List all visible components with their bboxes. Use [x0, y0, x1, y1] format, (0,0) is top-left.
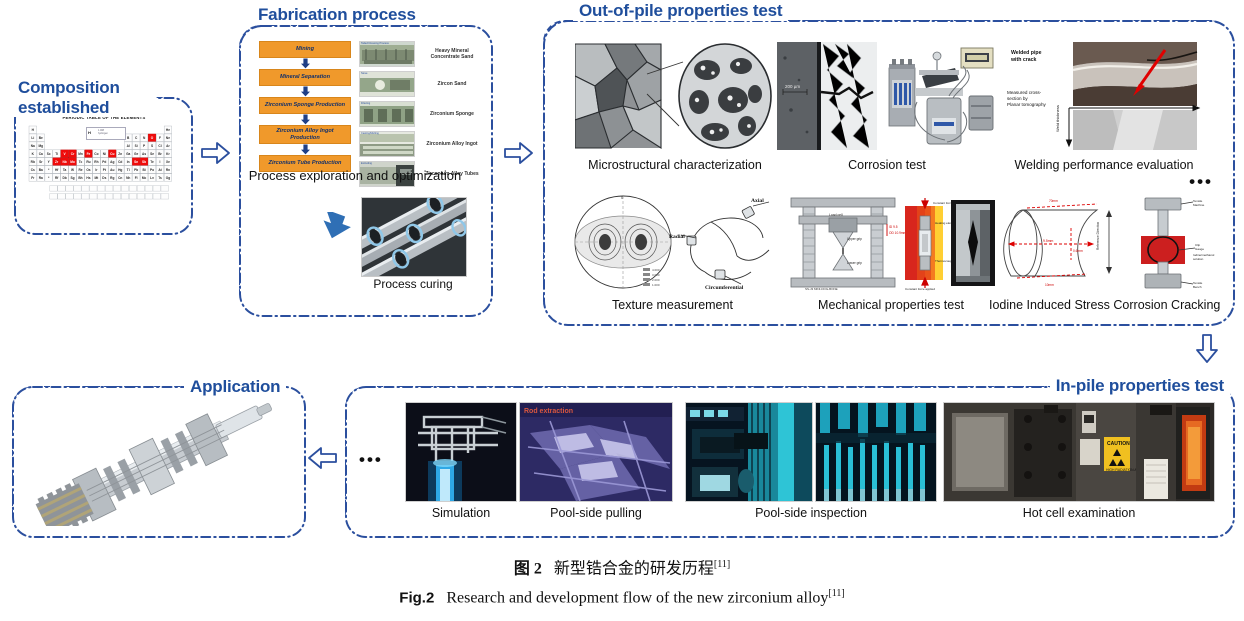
tile-caption: Mechanical properties test — [785, 298, 997, 312]
svg-text:Cu: Cu — [110, 152, 114, 156]
svg-text:Mo: Mo — [70, 160, 75, 164]
svg-text:Zn: Zn — [118, 152, 122, 156]
caption-cn-label: 图 2 — [514, 560, 542, 577]
caption-cn-text: 新型锆合金的研发历程 — [554, 560, 714, 577]
caption-en-ref: [11] — [828, 588, 844, 599]
svg-text:Nb: Nb — [62, 160, 66, 164]
svg-text:200 µm: 200 µm — [785, 84, 800, 89]
tile-iodine-induced-stress-corrosion-cracking: 70mm 9.5mm 0.6mm 10mm Reference Directio… — [993, 194, 1223, 314]
right-arrow-icon — [503, 140, 535, 166]
svg-text:Sc: Sc — [47, 152, 51, 156]
svg-text:SS-J3 MINI-DOG-BONE: SS-J3 MINI-DOG-BONE — [805, 287, 838, 291]
arrow-composition-to-fabrication — [200, 140, 232, 171]
flow-step: Zirconium Alloy Ingot Production — [259, 125, 351, 144]
tile-mechanical-properties-test: Load cell Upper grip Lower grip ID 9.5 O… — [785, 194, 997, 314]
svg-text:CAUTION: CAUTION — [1107, 441, 1130, 447]
corrosion-image: 200 µm — [777, 40, 997, 152]
flow-step: Mining — [259, 41, 351, 58]
svg-text:Ne: Ne — [166, 136, 170, 140]
svg-text:0.6mm: 0.6mm — [1073, 249, 1083, 253]
periodic-table-legend: H 1.008hydrogen — [86, 127, 126, 140]
svg-text:Rn: Rn — [166, 168, 170, 172]
svg-text:As: As — [142, 152, 146, 156]
product-label: Zirconium Alloy Ingot — [421, 131, 483, 157]
caption-simulation: Simulation — [405, 506, 517, 520]
svg-text:Rb: Rb — [31, 160, 35, 164]
outpile-ellipsis: ••• — [1189, 172, 1213, 192]
svg-text:Na: Na — [31, 144, 35, 148]
product-label: Heavy Mineral Concentrate Sand — [421, 41, 483, 67]
svg-text:Cs: Cs — [31, 168, 35, 172]
flow-down-arrow-icon — [259, 86, 351, 97]
svg-text:Re: Re — [78, 168, 82, 172]
process-curing-image — [361, 197, 467, 277]
thumb-title: Extruding — [361, 162, 372, 165]
tile-caption: Iodine Induced Stress Corrosion Cracking — [989, 298, 1219, 312]
svg-text:OD 10.9mm: OD 10.9mm — [889, 231, 907, 235]
caption-cn-ref: [11] — [714, 559, 730, 570]
svg-text:Sg: Sg — [71, 176, 75, 180]
tile-texture-measurement: 0 4.0003.0002.0001.000 Axial Radial — [565, 194, 780, 314]
svg-text:solution: solution — [1193, 257, 1204, 261]
svg-text:Cn: Cn — [118, 176, 122, 180]
thumb-sponge: Filtering — [359, 101, 415, 127]
microstructure-image — [575, 40, 775, 152]
caption-english: Fig.2 Research and development flow of t… — [0, 581, 1244, 610]
image-poolside-inspection-a — [685, 402, 813, 502]
tile-caption: Texture measurement — [565, 298, 780, 312]
poolside-inspection-art-b — [816, 403, 937, 502]
svg-text:Au: Au — [110, 168, 114, 172]
svg-text:Fl: Fl — [135, 176, 138, 180]
svg-text:Tl: Tl — [127, 168, 130, 172]
thumb-title: Sieve — [361, 72, 368, 75]
thumb-art — [360, 72, 415, 97]
caption-hot-cell-examination: Hot cell examination — [943, 506, 1215, 520]
svg-text:Load cell: Load cell — [829, 213, 843, 217]
svg-text:Bi: Bi — [143, 168, 146, 172]
svg-text:70mm: 70mm — [1049, 199, 1058, 203]
fabrication-title: Fabrication process — [252, 5, 422, 25]
process-curing-label: Process curing — [351, 277, 475, 291]
texture-image: 0 4.0003.0002.0001.000 Axial Radial — [565, 194, 780, 292]
svg-text:Bh: Bh — [78, 176, 82, 180]
texture-annot-radial: Radial — [669, 234, 685, 240]
composition-panel: PERIODIC TABLE OF THE ELEMENTS HHeLiBeBC… — [14, 97, 189, 231]
svg-text:W: W — [71, 168, 74, 172]
svg-text:Rh: Rh — [94, 160, 98, 164]
svg-text:Mg: Mg — [38, 144, 43, 148]
svg-text:Os: Os — [86, 168, 90, 172]
svg-text:Al: Al — [127, 144, 130, 148]
svg-text:Si: Si — [135, 144, 138, 148]
application-panel — [12, 386, 302, 534]
svg-text:Te: Te — [150, 160, 154, 164]
out-of-pile-title: Out-of-pile properties test — [573, 1, 788, 21]
arrow-inpile-to-application — [306, 445, 338, 476]
poolside-pulling-art: Rod extraction — [520, 403, 673, 502]
in-pile-panel: ••• Simulatio — [345, 386, 1231, 534]
svg-text:Constant force applied: Constant force applied — [905, 287, 935, 291]
hot-cell-art: CAUTION HIGH RADIATION AREA — [944, 403, 1215, 502]
svg-text:Machine: Machine — [1193, 203, 1205, 207]
svg-text:Db: Db — [62, 176, 66, 180]
tile-caption: Welding performance evaluation — [997, 158, 1211, 172]
svg-text:Ts: Ts — [158, 176, 162, 180]
svg-text:Ds: Ds — [102, 176, 106, 180]
caption-chinese: 图 2 新型锆合金的研发历程[11] — [0, 552, 1244, 581]
down-arrow-icon — [1194, 333, 1220, 365]
caption-poolside-pulling: Pool-side pulling — [519, 506, 673, 520]
tile-welding-performance-evaluation: Welded pipe with crack Measured cross- s… — [997, 40, 1211, 176]
svg-text:Lower grip: Lower grip — [847, 261, 862, 265]
figure-canvas: Composition established PERIODIC TABLE O… — [0, 0, 1244, 621]
svg-text:Po: Po — [150, 168, 154, 172]
thumb-art — [360, 102, 415, 127]
thumb-title: Tailed Dressing Process — [361, 42, 389, 45]
flow-step: Mineral Separation — [259, 69, 351, 86]
svg-text:section by: section by — [1007, 96, 1028, 101]
arrow-fabrication-to-outpile — [503, 140, 535, 171]
svg-text:Ca: Ca — [39, 152, 43, 156]
svg-text:Gauge: Gauge — [1195, 247, 1204, 251]
svg-text:Bench: Bench — [1193, 285, 1202, 289]
welding-image: Welded pipe with crack Measured cross- s… — [997, 40, 1211, 152]
svg-text:Upper grip: Upper grip — [847, 237, 862, 241]
thumb-mineral-separation: Sieve — [359, 71, 415, 97]
tile-microstructural-characterization: Microstructural characterization — [575, 40, 775, 176]
out-of-pile-panel: Microstructural characterization 200 µm — [543, 20, 1231, 322]
svg-text:Li: Li — [31, 136, 34, 140]
flow-down-arrow-icon — [259, 144, 351, 155]
mechanical-image: Load cell Upper grip Lower grip ID 9.5 O… — [785, 194, 997, 292]
svg-text:3.000: 3.000 — [652, 273, 660, 277]
svg-text:9.5mm: 9.5mm — [1043, 239, 1054, 243]
svg-text:Co: Co — [94, 152, 98, 156]
curing-arrow-icon — [319, 212, 353, 247]
svg-text:Weld thickness: Weld thickness — [1055, 105, 1060, 132]
svg-text:Sn: Sn — [134, 160, 138, 164]
tile-caption: Corrosion test — [777, 158, 997, 172]
svg-text:Pb: Pb — [134, 168, 138, 172]
periodic-table: PERIODIC TABLE OF THE ELEMENTS HHeLiBeBC… — [26, 113, 182, 219]
svg-text:Planar tomography: Planar tomography — [1007, 102, 1047, 107]
caption-en-text: Research and development flow of the new… — [446, 590, 828, 607]
svg-text:with crack: with crack — [1010, 57, 1036, 63]
svg-text:Cl: Cl — [158, 144, 161, 148]
fabrication-flow: Mining Mineral Separation Zirconium Spon… — [259, 41, 351, 172]
svg-text:ID 9.5: ID 9.5 — [889, 225, 898, 229]
svg-text:F: F — [159, 136, 161, 140]
svg-text:Be: Be — [39, 136, 43, 140]
arrow-outpile-to-inpile — [1194, 333, 1220, 370]
svg-text:Ga: Ga — [126, 152, 130, 156]
svg-text:Ni: Ni — [103, 152, 106, 156]
svg-text:Hg: Hg — [118, 168, 122, 172]
image-poolside-inspection-b — [815, 402, 937, 502]
fabrication-panel: Mining Mineral Separation Zirconium Spon… — [239, 25, 489, 313]
svg-text:Welded pipe: Welded pipe — [1011, 50, 1042, 56]
svg-text:Sb: Sb — [142, 160, 146, 164]
svg-text:Ra: Ra — [39, 176, 43, 180]
svg-text:Mn: Mn — [78, 152, 83, 156]
svg-text:Og: Og — [166, 176, 170, 180]
svg-text:Lv: Lv — [150, 176, 154, 180]
svg-text:Ba: Ba — [39, 168, 43, 172]
tubes-photo — [362, 198, 466, 276]
svg-text:Nh: Nh — [126, 176, 130, 180]
svg-text:Measured cross-: Measured cross- — [1007, 90, 1042, 95]
svg-text:10mm: 10mm — [1045, 283, 1054, 287]
svg-text:He: He — [166, 128, 170, 132]
image-simulation — [405, 402, 517, 502]
svg-text:In: In — [127, 160, 130, 164]
texture-annot-circumferential: Circumferential — [705, 285, 744, 291]
in-pile-title: In-pile properties test — [1050, 376, 1230, 396]
thumb-art — [360, 42, 415, 67]
svg-text:Fe: Fe — [87, 152, 91, 156]
svg-text:Reference Direction: Reference Direction — [1096, 222, 1100, 250]
svg-text:Mc: Mc — [142, 176, 147, 180]
svg-text:S: S — [151, 144, 153, 148]
composition-title: Composition established — [12, 78, 156, 117]
tile-corrosion-test: 200 µm — [777, 40, 997, 176]
svg-text:Ti: Ti — [55, 152, 58, 156]
inpile-ellipsis: ••• — [359, 450, 383, 470]
svg-text:Hs: Hs — [86, 176, 90, 180]
svg-text:4.000: 4.000 — [652, 268, 660, 272]
texture-annot-axial: Axial — [751, 198, 764, 204]
application-title: Application — [184, 377, 286, 397]
figure-caption: 图 2 新型锆合金的研发历程[11] Fig.2 Research and de… — [0, 552, 1244, 611]
svg-text:Xe: Xe — [166, 160, 170, 164]
svg-text:Rod extraction: Rod extraction — [524, 408, 573, 415]
svg-text:Ge: Ge — [134, 152, 138, 156]
thumb-title: Casting/Melting — [361, 132, 379, 135]
tile-caption: Microstructural characterization — [575, 158, 775, 172]
simulation-art — [406, 403, 517, 502]
thumb-title: Filtering — [361, 102, 370, 105]
caption-en-label: Fig.2 — [399, 590, 434, 607]
product-label: Zircon Sand — [421, 71, 483, 97]
product-label: Zirconium Sponge — [421, 101, 483, 127]
svg-text:Ag: Ag — [110, 160, 114, 164]
thumb-art — [360, 132, 415, 157]
legend-lines: 1.008hydrogen — [98, 129, 108, 135]
flow-step: Zirconium Sponge Production — [259, 97, 351, 114]
image-hot-cell-examination: CAUTION HIGH RADIATION AREA — [943, 402, 1215, 502]
process-exploration-label: Process exploration and optimization — [247, 167, 463, 184]
flow-down-arrow-icon — [259, 58, 351, 69]
svg-text:Rg: Rg — [110, 176, 114, 180]
svg-text:Ru: Ru — [86, 160, 90, 164]
svg-text:Tc: Tc — [79, 160, 83, 164]
legend-symbol: H — [88, 130, 91, 135]
svg-text:1.000: 1.000 — [652, 283, 660, 287]
iscc-image: 70mm 9.5mm 0.6mm 10mm Reference Directio… — [993, 194, 1223, 292]
image-poolside-pulling: Rod extraction — [519, 402, 673, 502]
fuel-assembly-image — [30, 400, 288, 526]
svg-text:I: I — [160, 160, 161, 164]
svg-text:Se: Se — [150, 152, 154, 156]
flow-down-arrow-icon — [259, 114, 351, 125]
right-arrow-icon — [200, 140, 232, 166]
svg-text:Ta: Ta — [63, 168, 67, 172]
svg-text:2.000: 2.000 — [652, 278, 660, 282]
caption-poolside-inspection: Pool-side inspection — [685, 506, 937, 520]
thumb-mining: Tailed Dressing Process — [359, 41, 415, 67]
thumb-ingot: Casting/Melting — [359, 131, 415, 157]
left-arrow-icon — [306, 445, 338, 471]
svg-text:Cd: Cd — [118, 160, 122, 164]
poolside-inspection-art-a — [686, 403, 813, 502]
svg-text:Pd: Pd — [102, 160, 106, 164]
